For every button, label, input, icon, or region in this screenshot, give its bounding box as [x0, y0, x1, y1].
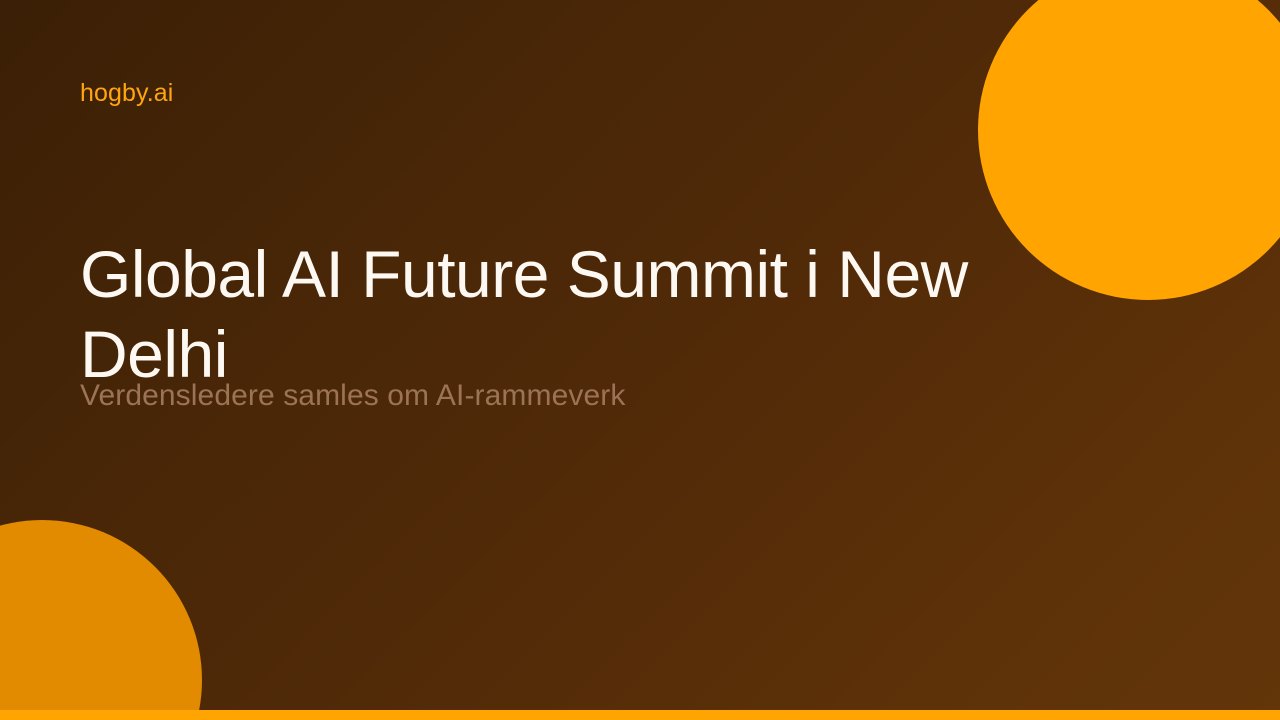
decorative-circle-bottom-left-icon: [0, 520, 202, 720]
bottom-accent-bar: [0, 710, 1280, 720]
slide-title: Global AI Future Summit i New Delhi: [80, 234, 980, 394]
slide-subtitle: Verdensledere samles om AI-rammeverk: [80, 375, 980, 417]
title-slide: hogby.ai Global AI Future Summit i New D…: [0, 0, 1280, 720]
decorative-circle-top-right-icon: [978, 0, 1280, 300]
brand-logo-text: hogby.ai: [80, 78, 173, 108]
